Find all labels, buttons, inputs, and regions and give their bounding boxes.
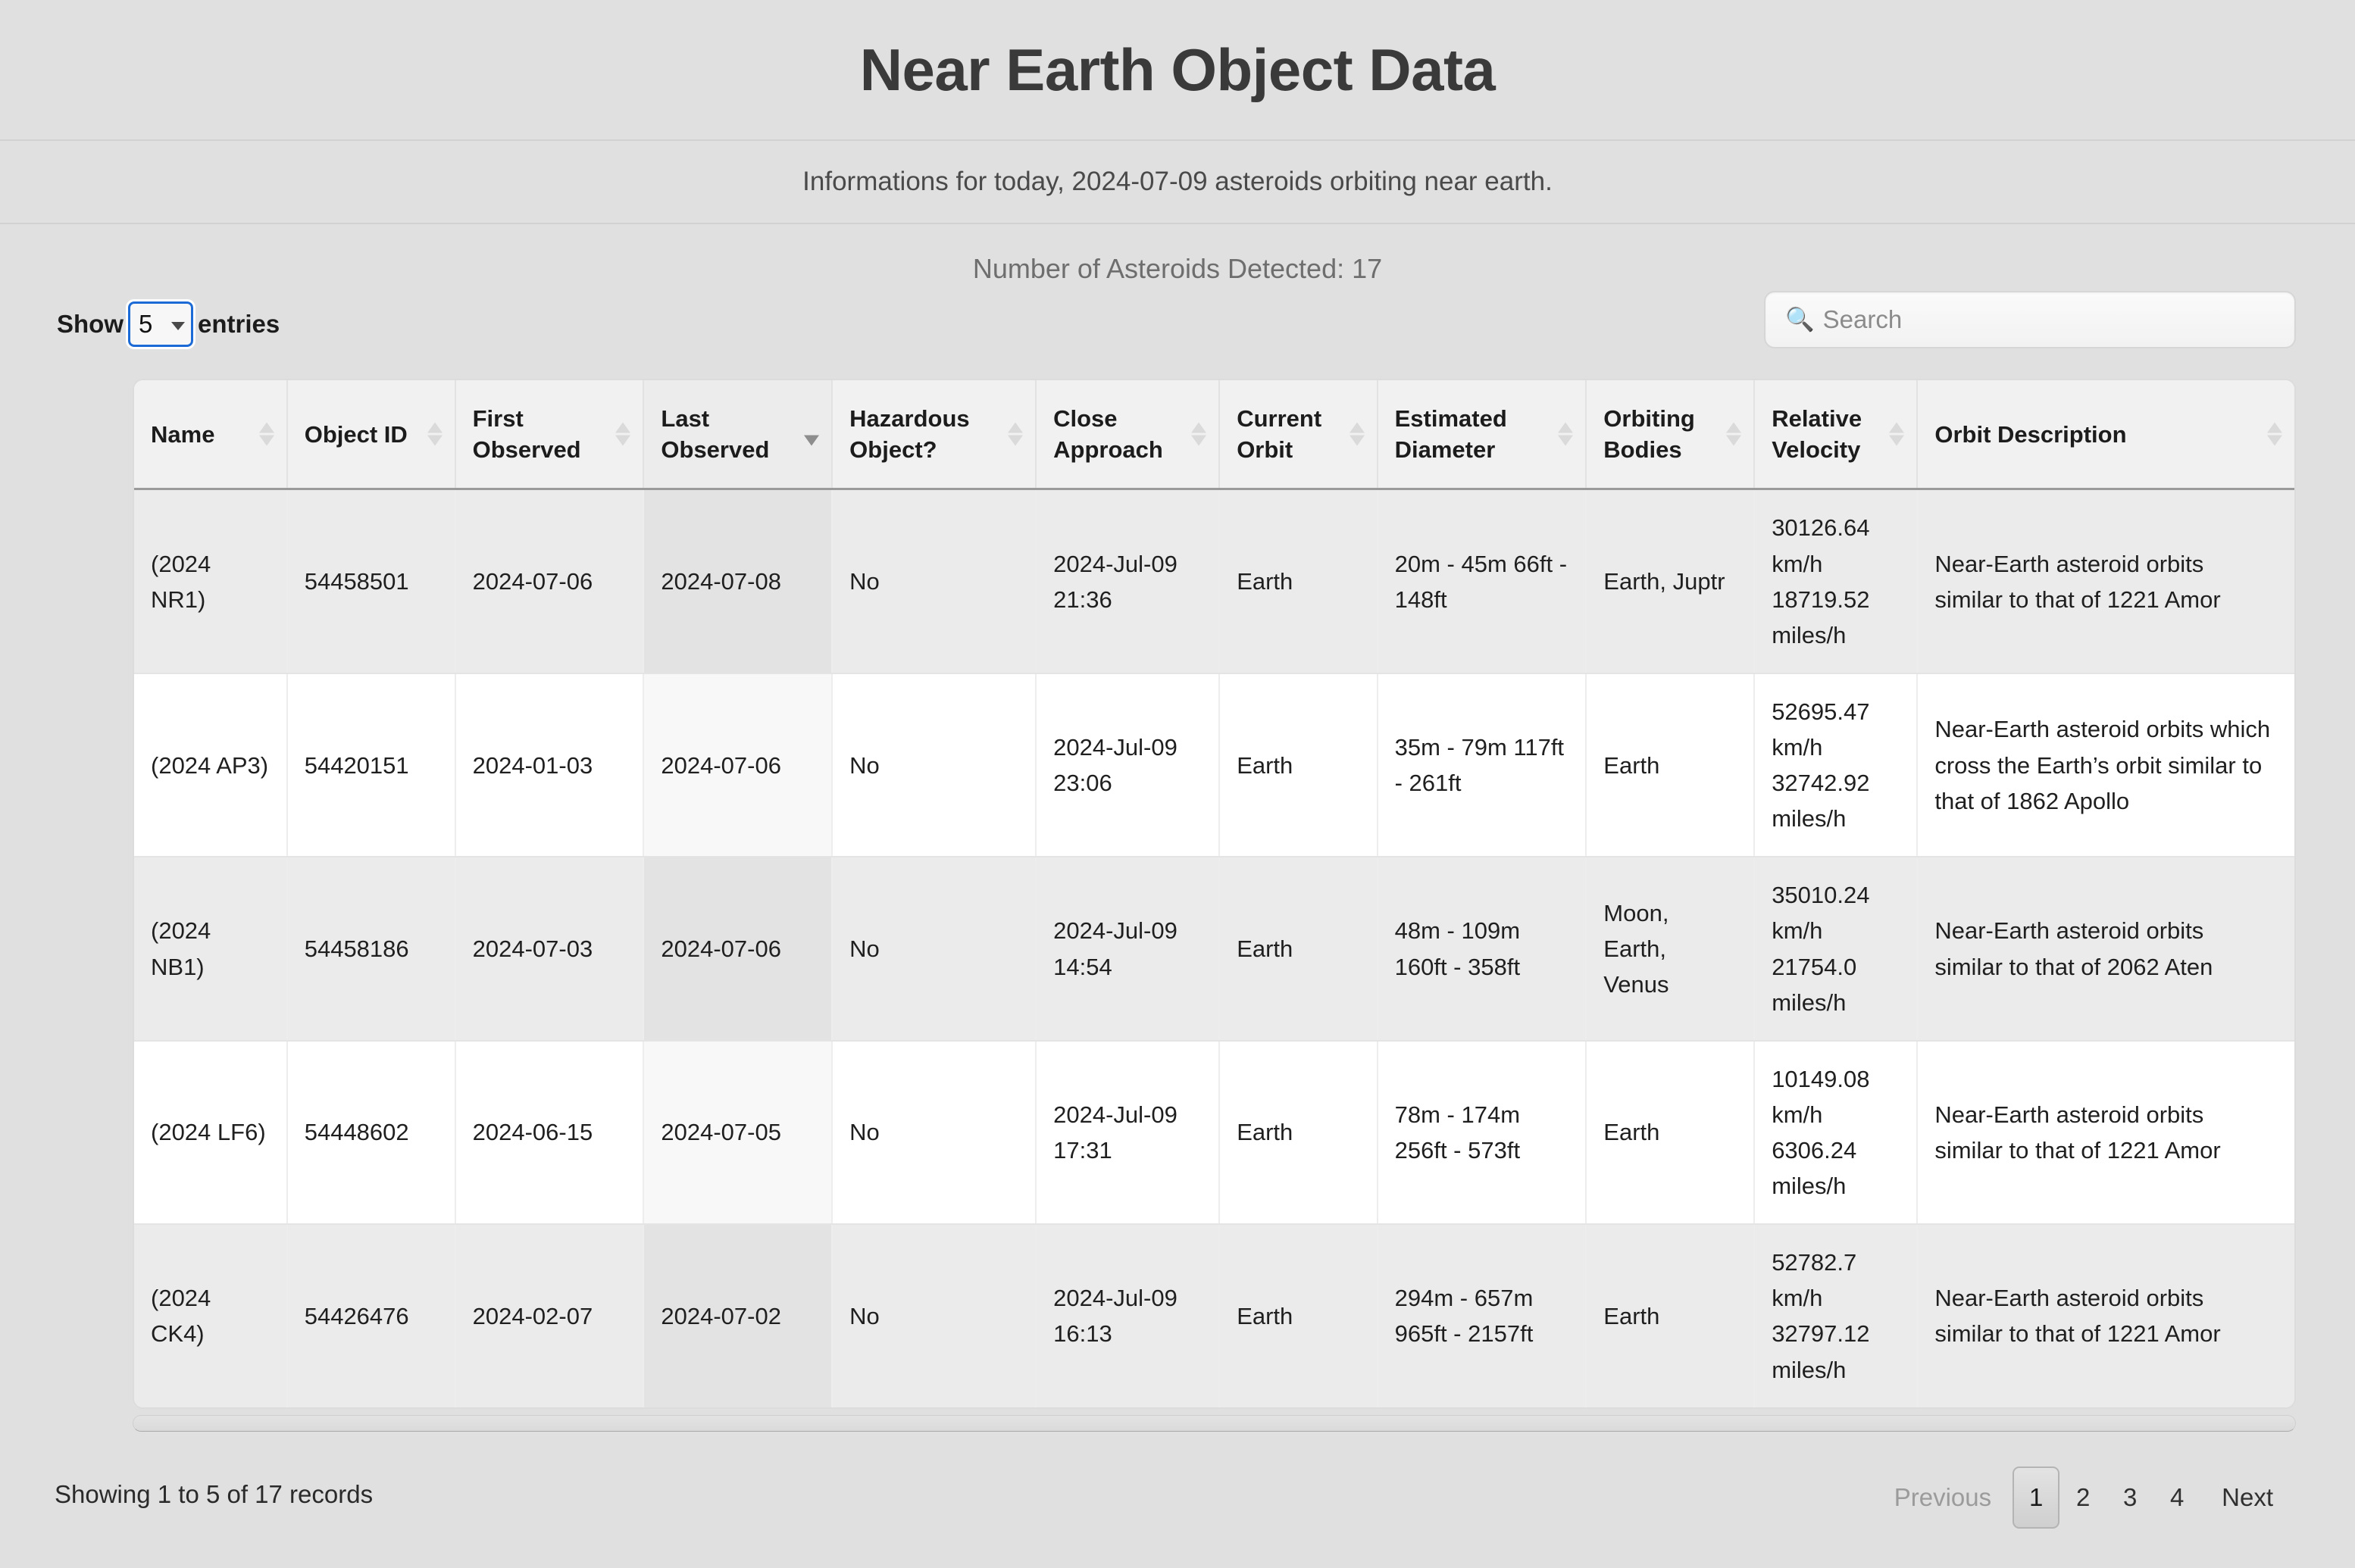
- column-header-label: Relative Velocity: [1772, 405, 1862, 463]
- cell-relative-velocity: 30126.64 km/h 18719.52 miles/h: [1754, 489, 1917, 673]
- cell-name: (2024 CK4): [134, 1224, 287, 1407]
- entries-label-prefix: Show: [57, 310, 124, 339]
- cell-object-id: 54458501: [287, 489, 455, 673]
- entries-per-page-select[interactable]: 5: [128, 301, 193, 347]
- records-info: Showing 1 to 5 of 17 records: [55, 1480, 373, 1509]
- cell-hazardous: No: [832, 857, 1036, 1040]
- cell-first-observed: 2024-07-06: [455, 489, 644, 673]
- cell-relative-velocity: 52782.7 km/h 32797.12 miles/h: [1754, 1224, 1917, 1407]
- sort-toggle-icon[interactable]: [1008, 423, 1023, 446]
- pagination-page-3[interactable]: 3: [2106, 1466, 2153, 1529]
- cell-first-observed: 2024-01-03: [455, 673, 644, 857]
- cell-orbiting-bodies: Earth, Juptr: [1586, 489, 1754, 673]
- cell-first-observed: 2024-06-15: [455, 1041, 644, 1224]
- pagination-previous[interactable]: Previous: [1873, 1466, 2013, 1529]
- sort-toggle-icon[interactable]: [1889, 423, 1904, 446]
- pagination-page-2[interactable]: 2: [2059, 1466, 2106, 1529]
- cell-relative-velocity: 35010.24 km/h 21754.0 miles/h: [1754, 857, 1917, 1040]
- table-row: (2024 NR1)544585012024-07-062024-07-08No…: [134, 489, 2294, 673]
- cell-last-observed: 2024-07-02: [643, 1224, 832, 1407]
- table-row: (2024 AP3)544201512024-01-032024-07-06No…: [134, 673, 2294, 857]
- pagination-page-1[interactable]: 1: [2013, 1466, 2059, 1529]
- cell-object-id: 54426476: [287, 1224, 455, 1407]
- column-header-label: Last Observed: [661, 405, 769, 463]
- column-header-label: First Observed: [473, 405, 581, 463]
- column-header-label: Object ID: [305, 421, 408, 448]
- page-subtitle: Informations for today, 2024-07-09 aster…: [802, 167, 1553, 197]
- column-header-label: Close Approach: [1053, 405, 1163, 463]
- pagination: Previous1234Next: [1873, 1466, 2294, 1529]
- asteroid-count-row: Number of Asteroids Detected: 17: [0, 224, 2355, 285]
- cell-object-id: 54448602: [287, 1041, 455, 1224]
- cell-name: (2024 NB1): [134, 857, 287, 1040]
- sort-toggle-icon[interactable]: [1191, 423, 1206, 446]
- column-header-object-id[interactable]: Object ID: [287, 380, 455, 489]
- cell-orbit-description: Near-Earth asteroid orbits similar to th…: [1917, 489, 2294, 673]
- column-header-label: Orbit Description: [1934, 421, 2126, 448]
- sort-toggle-icon[interactable]: [1350, 423, 1365, 446]
- column-header-first-observed[interactable]: First Observed: [455, 380, 644, 489]
- column-header-name[interactable]: Name: [134, 380, 287, 489]
- table-head: NameObject IDFirst ObservedLast Observed…: [134, 380, 2294, 489]
- cell-close-approach: 2024-Jul-09 17:31: [1036, 1041, 1219, 1224]
- chevron-down-icon: [171, 322, 185, 330]
- cell-last-observed: 2024-07-08: [643, 489, 832, 673]
- asteroid-count-text: Number of Asteroids Detected: 17: [973, 253, 1382, 284]
- cell-name: (2024 NR1): [134, 489, 287, 673]
- cell-current-orbit: Earth: [1219, 1041, 1377, 1224]
- pagination-page-4[interactable]: 4: [2153, 1466, 2200, 1529]
- cell-name: (2024 AP3): [134, 673, 287, 857]
- sort-toggle-icon[interactable]: [427, 423, 443, 446]
- table-controls: Show 5 entries 🔍 Search: [0, 291, 2355, 367]
- cell-estimated-diameter: 48m - 109m 160ft - 358ft: [1378, 857, 1587, 1040]
- cell-orbit-description: Near-Earth asteroid orbits similar to th…: [1917, 857, 2294, 1040]
- cell-close-approach: 2024-Jul-09 16:13: [1036, 1224, 1219, 1407]
- column-header-close-approach[interactable]: Close Approach: [1036, 380, 1219, 489]
- table-header-row: NameObject IDFirst ObservedLast Observed…: [134, 380, 2294, 489]
- column-header-estimated-diameter[interactable]: Estimated Diameter: [1378, 380, 1587, 489]
- cell-orbiting-bodies: Earth: [1586, 673, 1754, 857]
- cell-hazardous: No: [832, 1224, 1036, 1407]
- sort-toggle-icon[interactable]: [615, 423, 630, 446]
- cell-orbiting-bodies: Earth: [1586, 1041, 1754, 1224]
- table-scroll-container: NameObject IDFirst ObservedLast Observed…: [133, 379, 2296, 1409]
- sort-toggle-icon[interactable]: [1726, 423, 1741, 446]
- cell-current-orbit: Earth: [1219, 857, 1377, 1040]
- column-header-label: Current Orbit: [1237, 405, 1321, 463]
- cell-last-observed: 2024-07-06: [643, 673, 832, 857]
- page-header: Near Earth Object Data: [0, 0, 2355, 141]
- entries-per-page-value: 5: [139, 310, 152, 339]
- cell-estimated-diameter: 20m - 45m 66ft - 148ft: [1378, 489, 1587, 673]
- cell-orbit-description: Near-Earth asteroid orbits similar to th…: [1917, 1224, 2294, 1407]
- cell-object-id: 54458186: [287, 857, 455, 1040]
- neo-data-table: NameObject IDFirst ObservedLast Observed…: [134, 380, 2294, 1407]
- cell-relative-velocity: 10149.08 km/h 6306.24 miles/h: [1754, 1041, 1917, 1224]
- cell-first-observed: 2024-07-03: [455, 857, 644, 1040]
- cell-last-observed: 2024-07-05: [643, 1041, 832, 1224]
- horizontal-scrollbar[interactable]: [133, 1415, 2296, 1432]
- column-header-label: Estimated Diameter: [1395, 405, 1507, 463]
- cell-first-observed: 2024-02-07: [455, 1224, 644, 1407]
- table-body: (2024 NR1)544585012024-07-062024-07-08No…: [134, 489, 2294, 1407]
- cell-orbiting-bodies: Moon, Earth, Venus: [1586, 857, 1754, 1040]
- entries-label-suffix: entries: [198, 310, 280, 339]
- column-header-last-observed[interactable]: Last Observed: [643, 380, 832, 489]
- page-subheader: Informations for today, 2024-07-09 aster…: [0, 141, 2355, 224]
- sort-toggle-icon[interactable]: [1558, 423, 1573, 446]
- column-header-relative-velocity[interactable]: Relative Velocity: [1754, 380, 1917, 489]
- cell-estimated-diameter: 35m - 79m 117ft - 261ft: [1378, 673, 1587, 857]
- cell-current-orbit: Earth: [1219, 673, 1377, 857]
- cell-last-observed: 2024-07-06: [643, 857, 832, 1040]
- cell-object-id: 54420151: [287, 673, 455, 857]
- column-header-orbit-description[interactable]: Orbit Description: [1917, 380, 2294, 489]
- cell-orbit-description: Near-Earth asteroid orbits similar to th…: [1917, 1041, 2294, 1224]
- cell-hazardous: No: [832, 1041, 1036, 1224]
- column-header-label: Hazardous Object?: [849, 405, 969, 463]
- column-header-current-orbit[interactable]: Current Orbit: [1219, 380, 1377, 489]
- cell-current-orbit: Earth: [1219, 489, 1377, 673]
- cell-relative-velocity: 52695.47 km/h 32742.92 miles/h: [1754, 673, 1917, 857]
- table-row: (2024 NB1)544581862024-07-032024-07-06No…: [134, 857, 2294, 1040]
- cell-close-approach: 2024-Jul-09 21:36: [1036, 489, 1219, 673]
- cell-orbiting-bodies: Earth: [1586, 1224, 1754, 1407]
- cell-hazardous: No: [832, 673, 1036, 857]
- cell-close-approach: 2024-Jul-09 14:54: [1036, 857, 1219, 1040]
- table-row: (2024 CK4)544264762024-02-072024-07-02No…: [134, 1224, 2294, 1407]
- sort-descending-icon[interactable]: [804, 423, 819, 446]
- page-title: Near Earth Object Data: [860, 36, 1496, 105]
- search-icon: 🔍: [1785, 305, 1815, 333]
- table-row: (2024 LF6)544486022024-06-152024-07-05No…: [134, 1041, 2294, 1224]
- cell-estimated-diameter: 294m - 657m 965ft - 2157ft: [1378, 1224, 1587, 1407]
- pagination-next[interactable]: Next: [2200, 1466, 2294, 1529]
- cell-orbit-description: Near-Earth asteroid orbits which cross t…: [1917, 673, 2294, 857]
- sort-toggle-icon[interactable]: [2267, 423, 2282, 446]
- cell-current-orbit: Earth: [1219, 1224, 1377, 1407]
- table-card: NameObject IDFirst ObservedLast Observed…: [133, 379, 2296, 1409]
- search-box[interactable]: 🔍 Search: [1764, 291, 2296, 348]
- entries-length-control: Show 5 entries: [57, 301, 280, 347]
- column-header-label: Name: [151, 421, 214, 448]
- cell-close-approach: 2024-Jul-09 23:06: [1036, 673, 1219, 857]
- sort-toggle-icon[interactable]: [259, 423, 274, 446]
- table-footer: Showing 1 to 5 of 17 records Previous123…: [0, 1466, 2355, 1550]
- column-header-hazardous-object[interactable]: Hazardous Object?: [832, 380, 1036, 489]
- cell-name: (2024 LF6): [134, 1041, 287, 1224]
- column-header-orbiting-bodies[interactable]: Orbiting Bodies: [1586, 380, 1754, 489]
- column-header-label: Orbiting Bodies: [1603, 405, 1695, 463]
- cell-estimated-diameter: 78m - 174m 256ft - 573ft: [1378, 1041, 1587, 1224]
- search-input[interactable]: Search: [1823, 305, 1903, 334]
- cell-hazardous: No: [832, 489, 1036, 673]
